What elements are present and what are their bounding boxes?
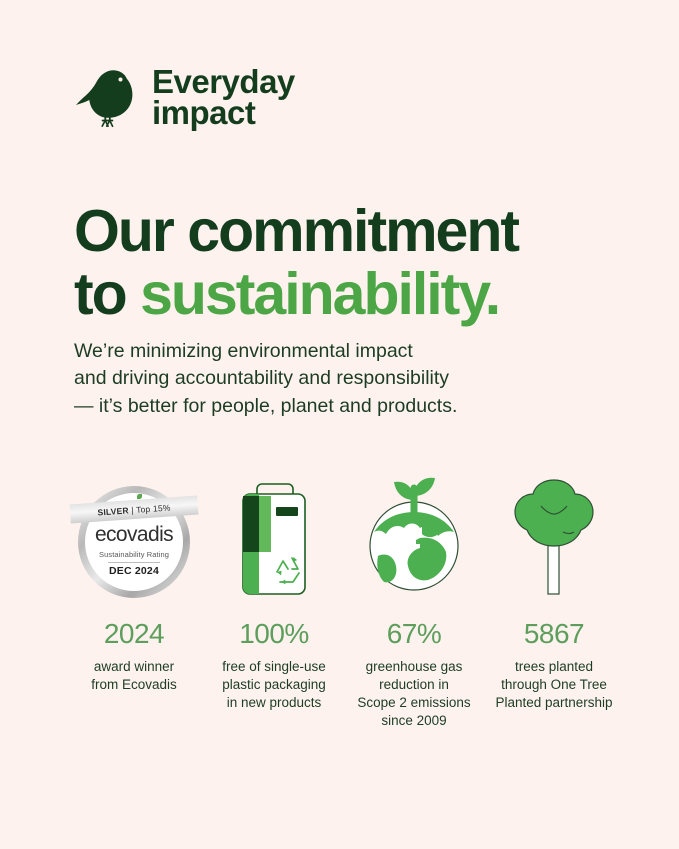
ecovadis-badge: ecovadis Sustainability Rating DEC 2024 … [78,486,190,598]
brand-name-line1: Everyday [152,66,295,97]
tree-icon [501,470,607,598]
brand-name: Everyday impact [152,66,295,128]
bird-icon [76,62,138,132]
stat-item-emissions: 67% greenhouse gas reduction in Scope 2 … [344,470,484,730]
tree-graphic [501,472,607,598]
recyclable-packaging-icon [228,470,320,598]
caption-line: plastic packaging [222,676,326,694]
stat-item-trees: 5867 trees planted through One Tree Plan… [484,470,624,730]
intro-line-1: We’re minimizing environmental impact [74,338,554,366]
badge-divider [108,562,160,563]
stat-caption: award winner from Ecovadis [91,658,177,694]
brand-name-line2: impact [152,97,295,128]
headline-line1: Our commitment [74,198,518,264]
ecovadis-medal-icon: ecovadis Sustainability Rating DEC 2024 … [78,470,190,598]
sustainability-infographic: Everyday impact Our commitment to sustai… [0,0,679,849]
stat-value: 100% [239,620,309,648]
caption-line: reduction in [357,676,470,694]
packaging-graphic [228,480,320,598]
brand-logo: Everyday impact [76,62,295,132]
page-title: Our commitment to sustainability. [74,200,634,326]
leaf-accent-icon [137,494,142,499]
globe-graphic [358,470,470,598]
caption-line: award winner [91,658,177,676]
stat-value: 5867 [524,620,584,648]
caption-line: Scope 2 emissions [357,694,470,712]
caption-line: trees planted [495,658,612,676]
stat-caption: greenhouse gas reduction in Scope 2 emis… [357,658,470,730]
stats-row: ecovadis Sustainability Rating DEC 2024 … [64,470,624,730]
intro-paragraph: We’re minimizing environmental impact an… [74,338,554,421]
intro-line-2: and driving accountability and responsib… [74,365,554,393]
badge-banner-text: SILVER | Top 15% [97,502,171,517]
intro-line-3: — it’s better for people, planet and pro… [74,393,554,421]
caption-line: Planted partnership [495,694,612,712]
caption-line: greenhouse gas [357,658,470,676]
headline-line2-prefix: to [74,261,140,327]
caption-line: free of single-use [222,658,326,676]
badge-subtitle: Sustainability Rating [99,550,169,559]
stat-value: 2024 [104,620,164,648]
stat-caption: free of single-use plastic packaging in … [222,658,326,712]
badge-date: DEC 2024 [109,565,159,577]
badge-rank: Top 15% [136,502,171,514]
caption-line: since 2009 [357,712,470,730]
caption-line: through One Tree [495,676,612,694]
badge-tier: SILVER [97,505,129,517]
caption-line: from Ecovadis [91,676,177,694]
stat-item-ecovadis: ecovadis Sustainability Rating DEC 2024 … [64,470,204,730]
stat-item-packaging: 100% free of single-use plastic packagin… [204,470,344,730]
stat-value: 67% [387,620,442,648]
caption-line: in new products [222,694,326,712]
ecovadis-wordmark: ecovadis [95,523,173,547]
headline-accent: sustainability. [140,261,499,327]
stat-caption: trees planted through One Tree Planted p… [495,658,612,712]
globe-sprout-icon [358,470,470,598]
